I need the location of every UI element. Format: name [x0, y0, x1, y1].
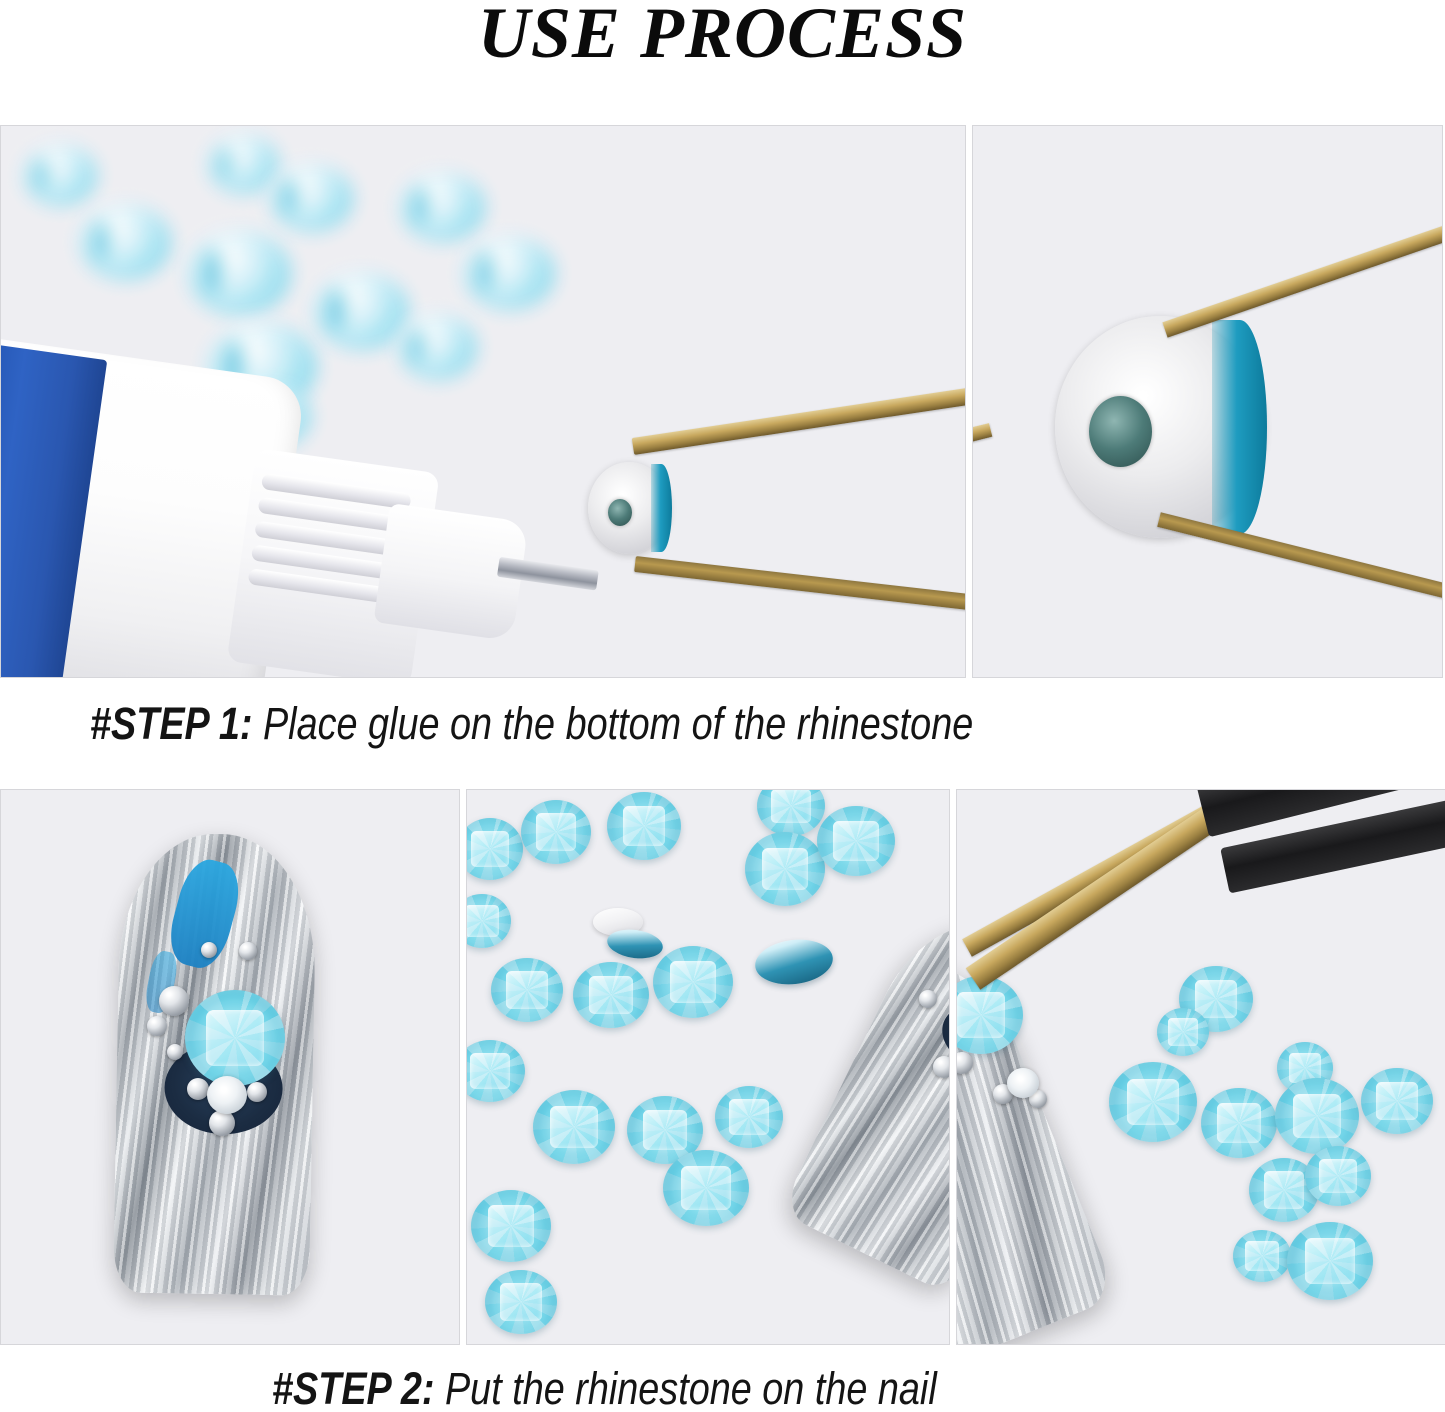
tweezer-upper-arm: [632, 386, 966, 455]
silver-bead: [933, 1056, 950, 1078]
step-2-caption: #STEP 2: Put the rhinestone on the nail: [272, 1363, 937, 1412]
infographic-page: USE PROCESS: [0, 0, 1445, 1412]
step-2-label: #STEP 2:: [272, 1363, 434, 1412]
loose-rhinestone: [1201, 1088, 1277, 1158]
silver-bead: [167, 1044, 183, 1060]
loose-rhinestone: [466, 1040, 525, 1102]
loose-rhinestone: [1287, 1222, 1373, 1300]
loose-rhinestone: [485, 1270, 557, 1334]
silver-bead: [187, 1078, 209, 1100]
loose-rhinestone: [757, 789, 825, 836]
loose-rhinestone: [1233, 1230, 1291, 1282]
nail-rhinestone: [185, 990, 285, 1086]
loose-rhinestone: [491, 958, 563, 1022]
loose-rhinestone: [745, 832, 825, 906]
loose-rhinestone: [1361, 1068, 1433, 1134]
blurred-rhinestone: [399, 172, 485, 242]
blurred-rhinestone: [187, 230, 291, 316]
step-2-photo-row: [0, 789, 1445, 1345]
rhinestone-side-view: [753, 935, 836, 988]
loose-rhinestone: [471, 1190, 551, 1262]
loose-rhinestone: [1109, 1062, 1197, 1142]
step-1-photo-row: [0, 125, 1445, 678]
silver-bead: [239, 942, 257, 960]
scattered-rhinestones-photo: [466, 789, 950, 1345]
loose-rhinestone: [1305, 1146, 1371, 1206]
rhinestone-foil-back: [588, 462, 670, 554]
loose-rhinestone: [715, 1086, 783, 1148]
loose-rhinestone: [653, 946, 733, 1018]
loose-rhinestone: [573, 962, 649, 1028]
loose-rhinestone: [607, 792, 681, 860]
rhinestone-teal-edge: [651, 464, 672, 552]
glue-dot: [608, 499, 633, 527]
blurred-rhinestone: [207, 134, 279, 194]
clear-rhinestone: [207, 1076, 247, 1114]
loose-rhinestone: [1275, 1078, 1359, 1154]
rhinestone-side-view: [605, 926, 664, 962]
loose-rhinestone: [817, 806, 895, 876]
finished-nail-photo: [0, 789, 460, 1345]
rhinestone-backside-macro-photo: [972, 125, 1443, 678]
blurred-rhinestone: [269, 164, 353, 232]
step-1-label: #STEP 1:: [90, 698, 252, 749]
glue-applicator-photo: [0, 125, 966, 678]
blurred-rhinestone: [79, 204, 171, 280]
loose-rhinestone: [521, 800, 591, 864]
tweezers-placing-photo: [956, 789, 1445, 1345]
step-2-text: Put the rhinestone on the nail: [434, 1363, 936, 1412]
tweezer-tip-edge: [972, 423, 992, 443]
tweezer-lower-arm: [1157, 512, 1443, 608]
tweezer-upper-arm: [1162, 215, 1443, 338]
blurred-rhinestone: [463, 236, 555, 310]
loose-rhinestone: [466, 818, 523, 880]
glue-dot: [1089, 396, 1152, 467]
loose-rhinestone: [663, 1150, 749, 1226]
blurred-rhinestone: [397, 314, 477, 380]
silver-bead: [147, 1016, 167, 1036]
clear-rhinestone: [1007, 1068, 1039, 1098]
silver-bead: [247, 1082, 267, 1102]
silver-bead: [159, 986, 189, 1016]
blurred-rhinestone: [313, 272, 409, 350]
step-1-caption: #STEP 1: Place glue on the bottom of the…: [90, 698, 973, 750]
page-title: USE PROCESS: [0, 0, 1445, 72]
loose-rhinestone: [466, 894, 511, 948]
rhinestone-teal-edge: [1212, 320, 1267, 533]
silver-bead: [209, 1110, 235, 1136]
step-1-text: Place glue on the bottom of the rhinesto…: [252, 698, 973, 749]
silver-bead: [201, 942, 217, 958]
loose-rhinestone: [1157, 1008, 1209, 1056]
silver-bead: [919, 990, 937, 1008]
loose-rhinestone: [533, 1090, 615, 1164]
blurred-rhinestone: [23, 144, 97, 206]
glue-tube: [0, 335, 524, 678]
rhinestone-foil-back: [1055, 316, 1265, 538]
tweezer-lower-arm: [634, 556, 966, 611]
